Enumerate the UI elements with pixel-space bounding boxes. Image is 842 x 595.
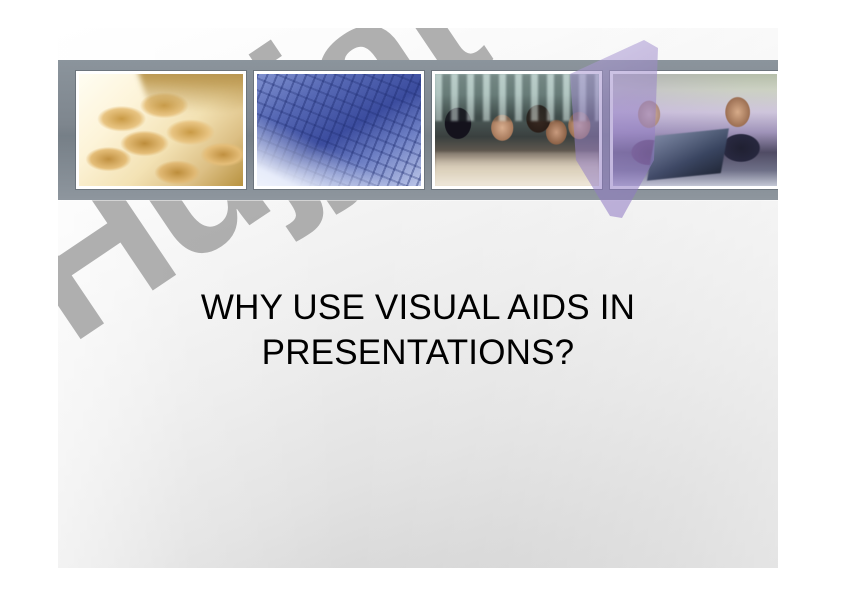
spreadsheet-page-icon [257,74,421,186]
thumbnail-strip [76,71,778,189]
calculator-keypad-icon [79,74,243,186]
thumbnail-calculator [76,71,246,189]
page-title: WHY USE VISUAL AIDS IN PRESENTATIONS? [118,286,718,376]
business-meeting-icon [435,74,599,186]
thumbnail-laptop [610,71,778,189]
thumbnail-spreadsheet [254,71,424,189]
thumbnail-meeting [432,71,602,189]
header-photo-band [58,60,778,200]
slide-canvas: Hujjat W [58,28,778,568]
laptop-discussion-icon [613,74,777,186]
